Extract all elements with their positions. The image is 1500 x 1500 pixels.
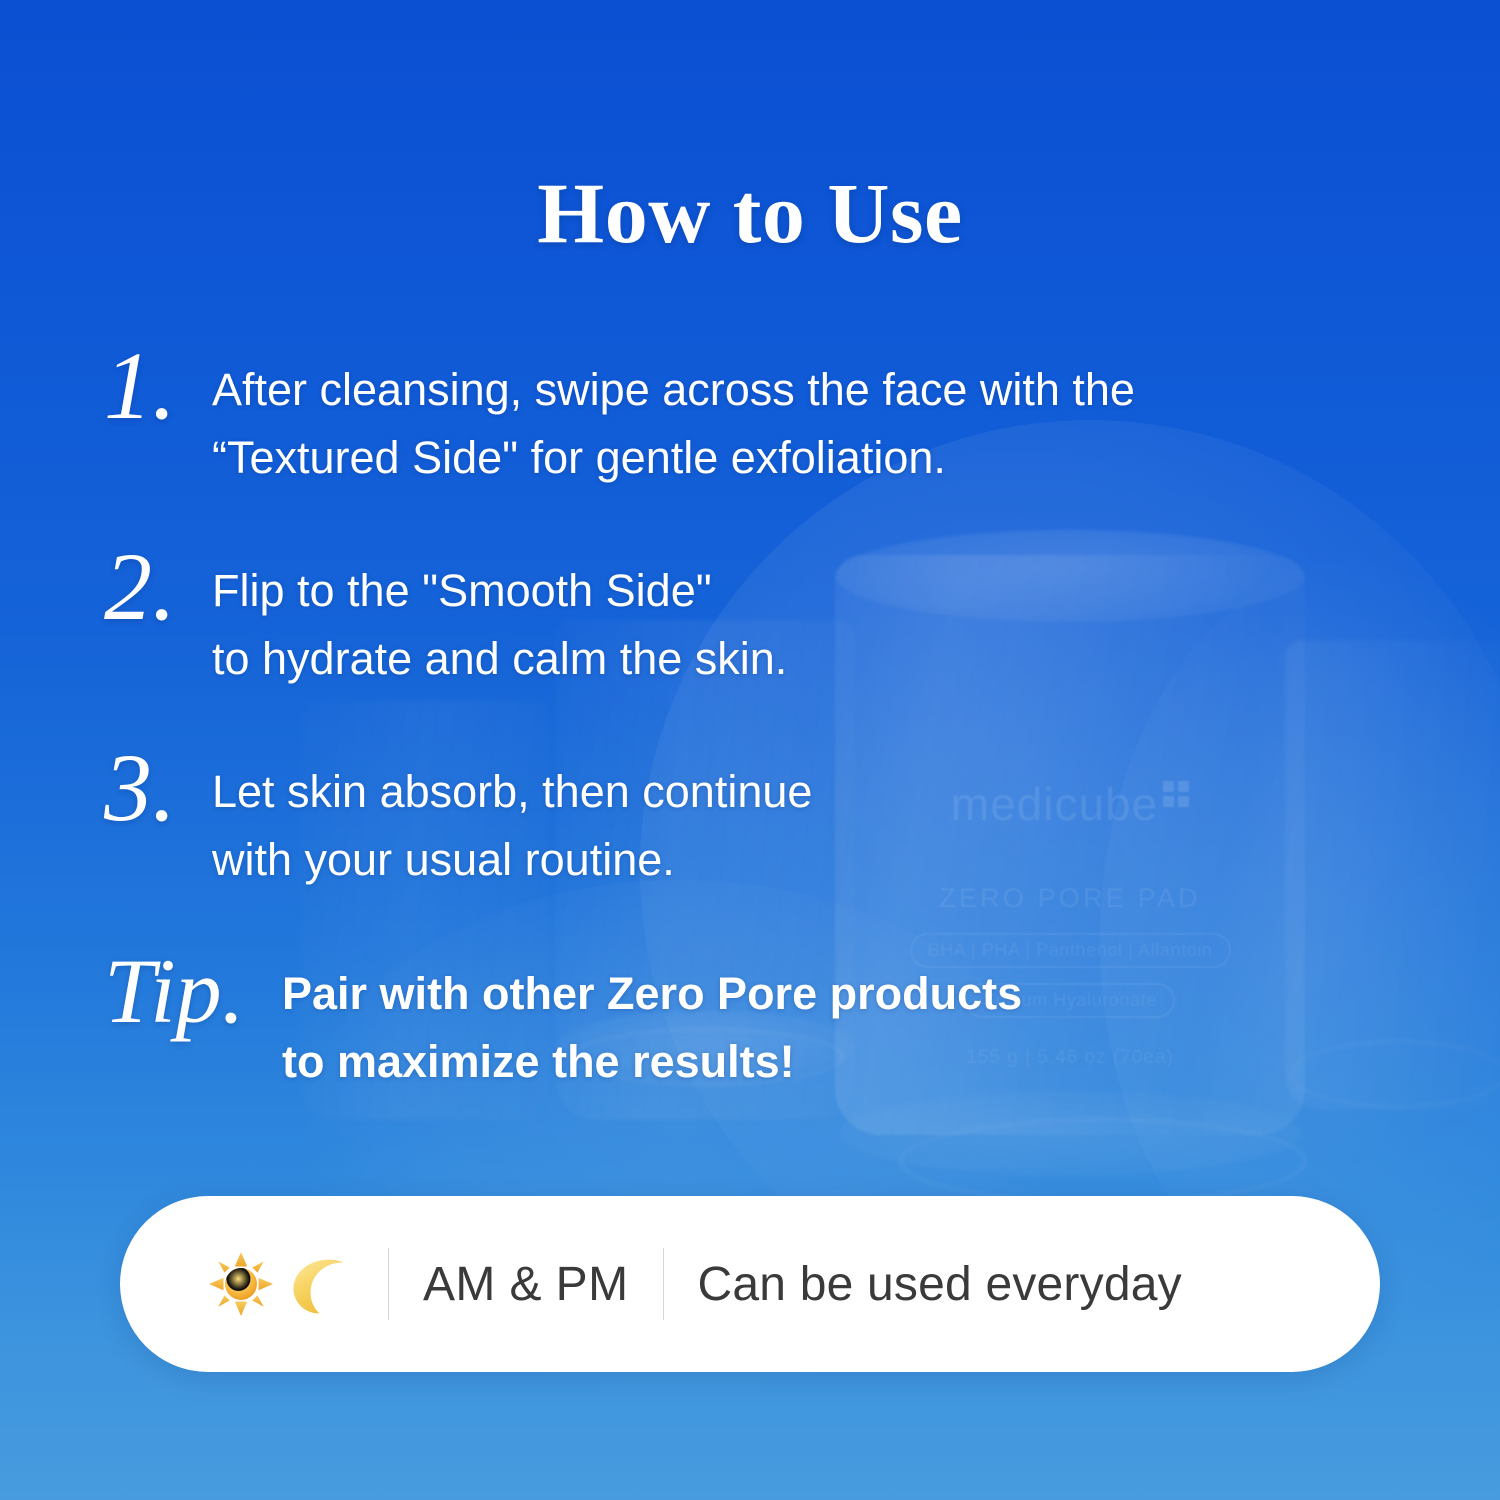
step-item: 3. Let skin absorb, then continue with y… bbox=[104, 738, 1380, 895]
sun-icon bbox=[208, 1251, 274, 1317]
usage-frequency-note: Can be used everyday bbox=[698, 1257, 1182, 1312]
step-text: Let skin absorb, then continue with your… bbox=[212, 738, 1380, 895]
usage-icon-group bbox=[120, 1251, 354, 1317]
usage-time-label: AM & PM bbox=[423, 1257, 629, 1312]
step-number: 2. bbox=[104, 537, 212, 634]
moon-icon bbox=[288, 1251, 354, 1317]
step-text-line: After cleansing, swipe across the face w… bbox=[212, 356, 1380, 424]
step-item: 2. Flip to the "Smooth Side" to hydrate … bbox=[104, 537, 1380, 694]
usage-bar: AM & PM Can be used everyday bbox=[120, 1196, 1380, 1372]
step-item: 1. After cleansing, swipe across the fac… bbox=[104, 336, 1380, 493]
step-text-line: Flip to the "Smooth Side" bbox=[212, 557, 1380, 625]
tip-text-line: Pair with other Zero Pore products bbox=[282, 960, 1380, 1028]
step-text-line: to hydrate and calm the skin. bbox=[212, 625, 1380, 693]
tip-text-line: to maximize the results! bbox=[282, 1028, 1380, 1096]
step-number: 3. bbox=[104, 738, 212, 835]
step-text: Flip to the "Smooth Side" to hydrate and… bbox=[212, 537, 1380, 694]
usage-divider-left bbox=[388, 1248, 389, 1320]
step-text-line: Let skin absorb, then continue bbox=[212, 758, 1380, 826]
step-text-line: with your usual routine. bbox=[212, 826, 1380, 894]
tip-label: Tip. bbox=[104, 938, 282, 1037]
product-jar-main-base bbox=[838, 1090, 1302, 1176]
steps-list: 1. After cleansing, swipe across the fac… bbox=[104, 336, 1380, 1095]
step-text: After cleansing, swipe across the face w… bbox=[212, 336, 1380, 493]
tip-text: Pair with other Zero Pore products to ma… bbox=[282, 938, 1380, 1095]
step-number: 1. bbox=[104, 336, 212, 433]
step-text-line: “Textured Side" for gentle exfoliation. bbox=[212, 424, 1380, 492]
usage-divider-right bbox=[663, 1248, 664, 1320]
page-title: How to Use bbox=[0, 163, 1500, 263]
infographic-canvas: medicube ZERO PORE PAD BHA | PHA | Panth… bbox=[0, 0, 1500, 1500]
product-pad-ellipse bbox=[900, 1118, 1306, 1204]
tip-item: Tip. Pair with other Zero Pore products … bbox=[104, 938, 1380, 1095]
